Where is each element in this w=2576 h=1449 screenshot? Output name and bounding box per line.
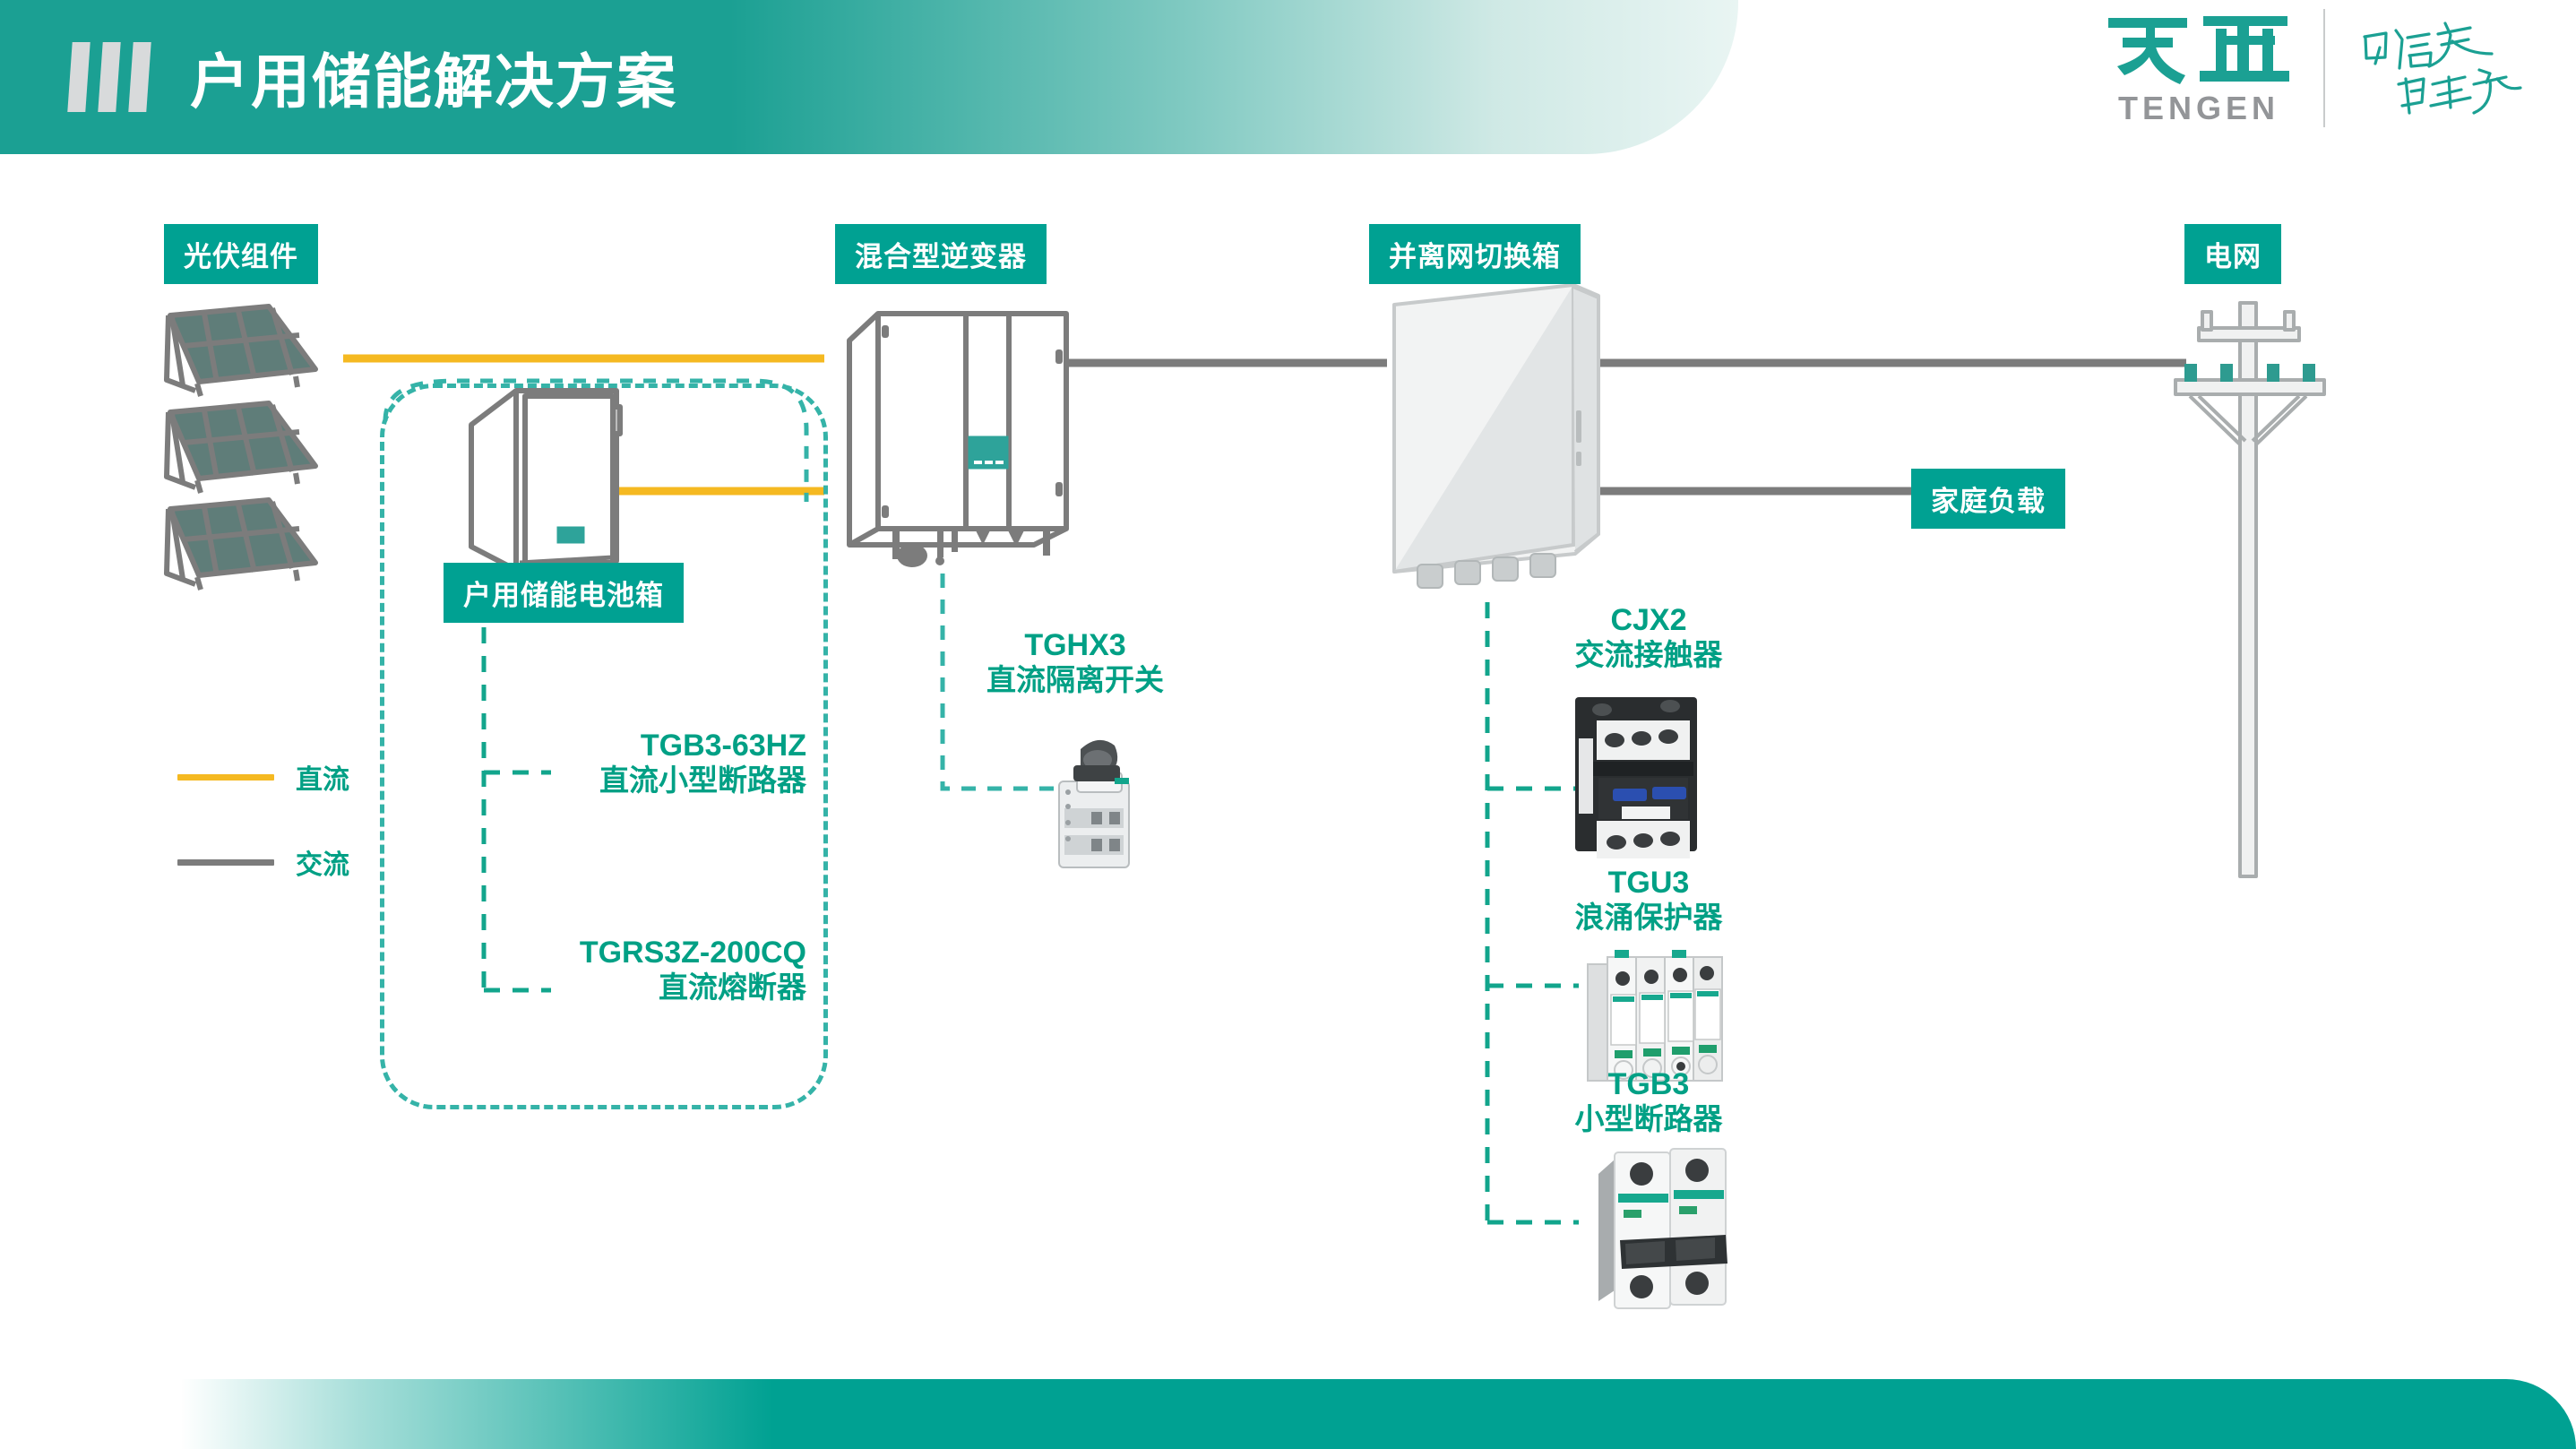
badge-switch-box: 并离网切换箱 xyxy=(1369,224,1581,284)
logo-en-name: TENGEN xyxy=(2118,90,2279,127)
label-tghx3: TGHX3 直流隔离开关 xyxy=(914,627,1236,698)
legend-label-ac: 交流 xyxy=(296,842,349,882)
label-tgu3: TGU3 浪涌保护器 xyxy=(1505,865,1792,936)
logo-mark: TENGEN xyxy=(2105,9,2293,127)
solution-diagram: 光伏组件 混合型逆变器 并离网切换箱 电网 户用储能电池箱 家庭负载 直流 交流… xyxy=(0,0,2576,1449)
three-bars-icon xyxy=(70,41,149,113)
badge-hybrid-inverter: 混合型逆变器 xyxy=(835,224,1047,284)
label-tgb3-63hz: TGB3-63HZ 直流小型断路器 xyxy=(538,728,806,798)
logo-divider xyxy=(2323,9,2325,127)
tengen-chinese-logo-icon xyxy=(2105,9,2293,86)
page-title: 户用储能解决方案 xyxy=(190,34,677,120)
legend-item-dc: 直流 xyxy=(177,757,349,797)
legend-swatch-dc xyxy=(177,774,274,781)
page-header: 户用储能解决方案 xyxy=(0,0,1738,154)
legend-swatch-ac xyxy=(177,859,274,866)
badge-pv-modules: 光伏组件 xyxy=(164,224,318,284)
badge-home-load: 家庭负载 xyxy=(1911,469,2065,529)
label-cjx2: CJX2 交流接触器 xyxy=(1505,602,1792,673)
label-tgb3: TGB3 小型断路器 xyxy=(1505,1066,1792,1137)
battery-internal-connectors xyxy=(0,0,2576,1449)
logo-slogan-icon xyxy=(2356,14,2526,122)
brand-logo: TENGEN xyxy=(2105,9,2526,127)
badge-grid: 电网 xyxy=(2184,224,2281,284)
label-tgrs3z-200cq: TGRS3Z-200CQ 直流熔断器 xyxy=(502,935,806,1005)
badge-battery-box: 户用储能电池箱 xyxy=(444,563,684,623)
legend-label-dc: 直流 xyxy=(296,757,349,797)
legend-item-ac: 交流 xyxy=(177,842,349,882)
